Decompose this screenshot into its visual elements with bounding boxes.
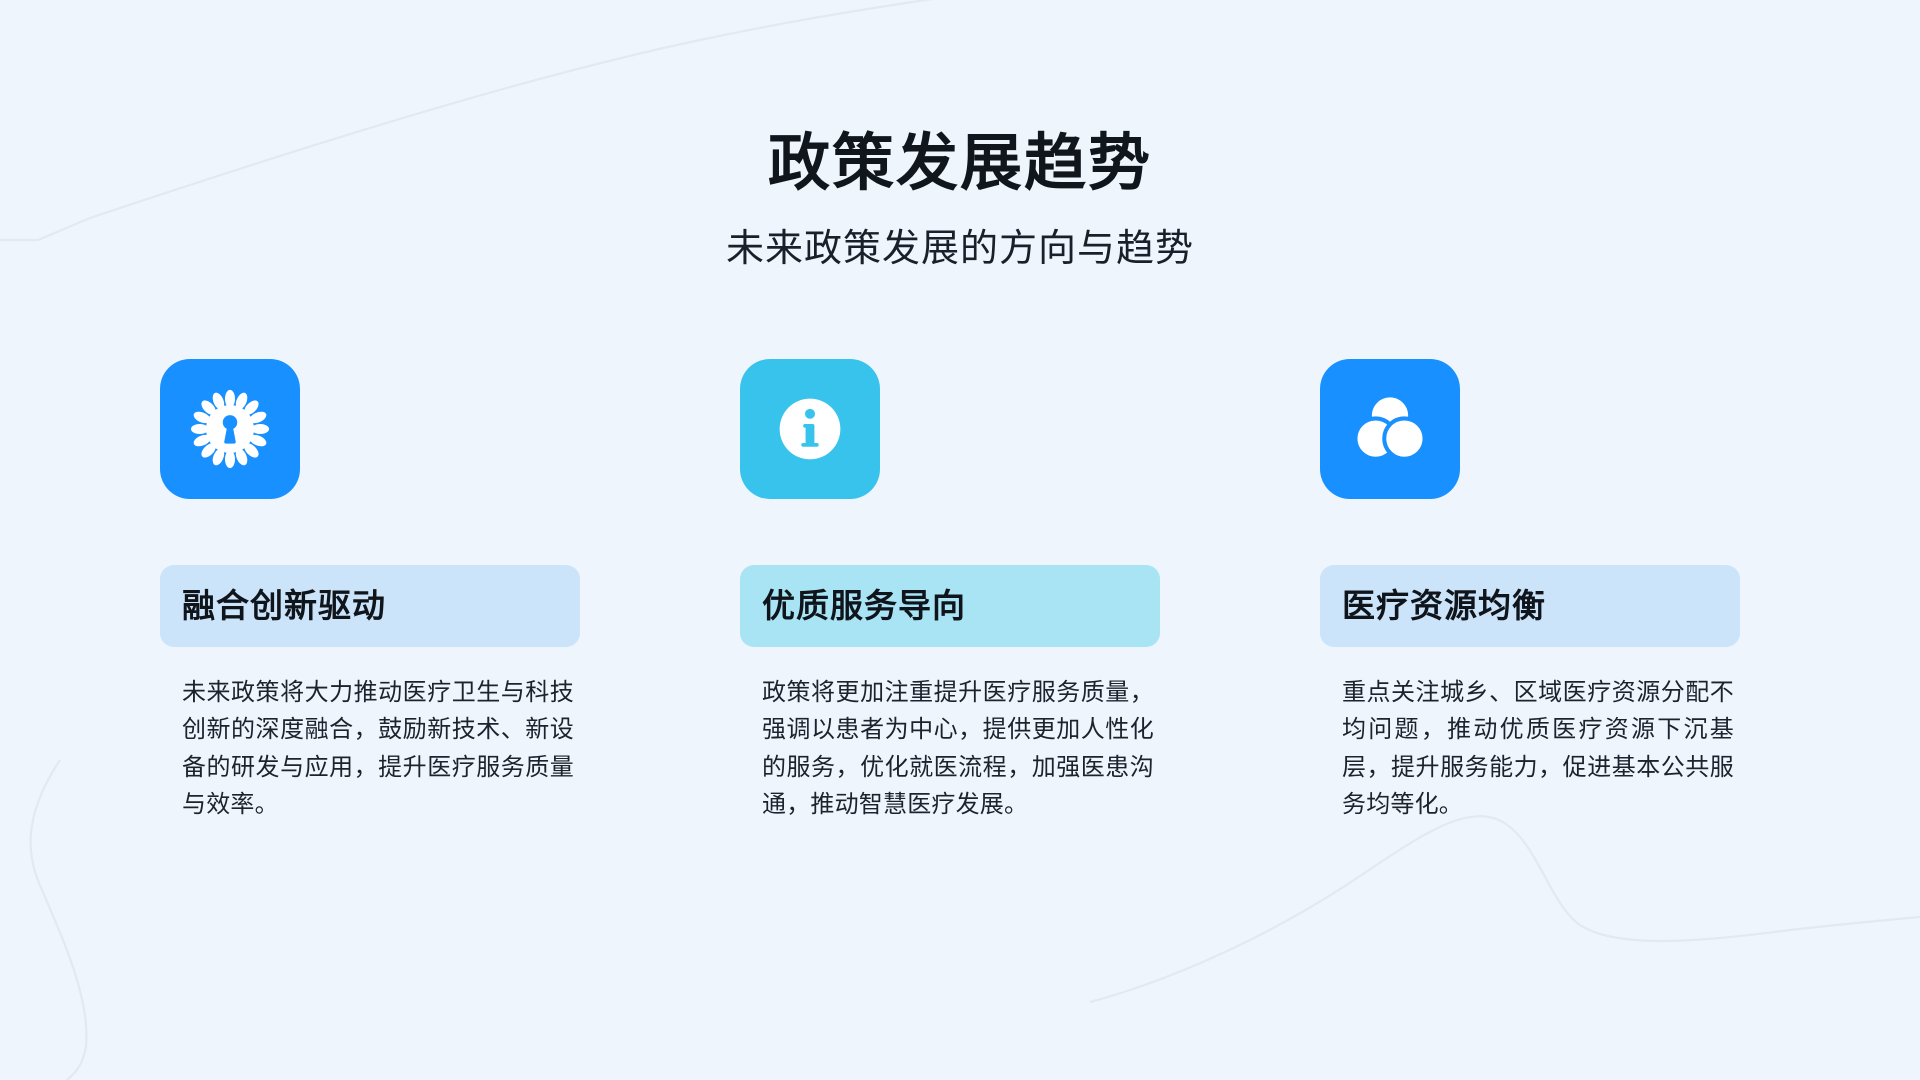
card-body-3: 重点关注城乡、区域医疗资源分配不均问题，推动优质医疗资源下沉基层，提升服务能力，…	[1320, 674, 1734, 824]
icon-tile-2	[740, 359, 880, 499]
card-title-3: 医疗资源均衡	[1342, 589, 1546, 622]
card-title-2: 优质服务导向	[762, 589, 966, 622]
slide-header: 政策发展趋势 未来政策发展的方向与趋势	[0, 128, 1920, 273]
card-title-1: 融合创新驱动	[182, 589, 386, 622]
venn-three-circles-icon	[1342, 381, 1438, 477]
card-fusion-innovation[interactable]: 融合创新驱动 未来政策将大力推动医疗卫生与科技创新的深度融合，鼓励新技术、新设备…	[160, 359, 580, 824]
cards-row: 融合创新驱动 未来政策将大力推动医疗卫生与科技创新的深度融合，鼓励新技术、新设备…	[0, 359, 1920, 824]
slide-root: 政策发展趋势 未来政策发展的方向与趋势	[0, 0, 1920, 1080]
page-subtitle: 未来政策发展的方向与趋势	[0, 227, 1920, 273]
title-pill-1: 融合创新驱动	[160, 565, 580, 647]
icon-tile-1	[160, 359, 300, 499]
title-pill-2: 优质服务导向	[740, 565, 1160, 647]
page-title: 政策发展趋势	[0, 128, 1920, 199]
title-pill-3: 医疗资源均衡	[1320, 565, 1740, 647]
card-body-2: 政策将更加注重提升医疗服务质量，强调以患者为中心，提供更加人性化的服务，优化就医…	[740, 674, 1154, 824]
icon-tile-3	[1320, 359, 1460, 499]
card-resource-balance[interactable]: 医疗资源均衡 重点关注城乡、区域医疗资源分配不均问题，推动优质医疗资源下沉基层，…	[1320, 359, 1740, 824]
card-body-1: 未来政策将大力推动医疗卫生与科技创新的深度融合，鼓励新技术、新设备的研发与应用，…	[160, 674, 574, 824]
card-quality-service[interactable]: 优质服务导向 政策将更加注重提升医疗服务质量，强调以患者为中心，提供更加人性化的…	[740, 359, 1160, 824]
info-circle-icon	[764, 383, 856, 475]
laurel-keyhole-icon	[182, 381, 278, 477]
